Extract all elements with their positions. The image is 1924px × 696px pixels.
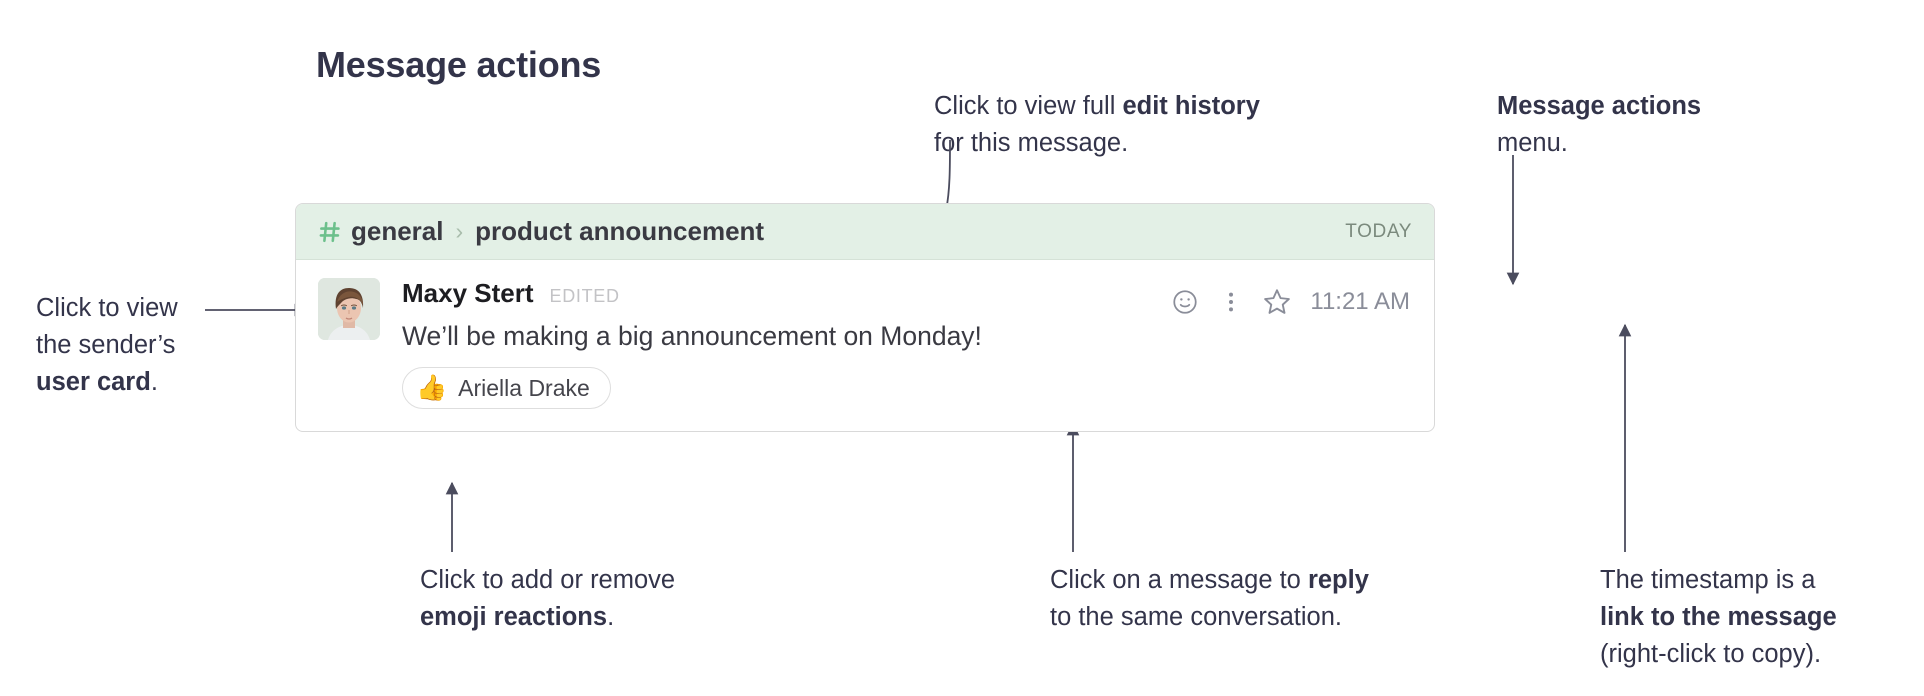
annotation-user-card-text-2: the sender’s bbox=[36, 327, 178, 364]
reaction-row: 👍 Ariella Drake bbox=[402, 367, 1412, 409]
annotation-user-card: Click to viewthe sender’suser card. bbox=[36, 290, 178, 401]
breadcrumb-channel[interactable]: general bbox=[351, 216, 444, 247]
message-actions-bar: 11:21 AM bbox=[1162, 282, 1410, 322]
hash-icon bbox=[318, 220, 342, 244]
annotation-timestamp-text-3: (right-click to copy). bbox=[1600, 636, 1837, 673]
avatar[interactable] bbox=[318, 278, 380, 340]
annotation-user-card-text-1: Click to view bbox=[36, 290, 178, 327]
annotation-timestamp-text-1: The timestamp is a bbox=[1600, 562, 1837, 599]
annotation-reply: Click on a message to replyto the same c… bbox=[1050, 562, 1369, 636]
message-text[interactable]: We’ll be making a big announcement on Mo… bbox=[402, 319, 1412, 353]
annotation-user-card-bold: user card bbox=[36, 368, 151, 396]
annotation-emoji-bold: emoji reactions bbox=[420, 603, 607, 631]
message-card: general › product announcement TODAY bbox=[295, 203, 1435, 432]
channel-header: general › product announcement TODAY bbox=[296, 204, 1434, 260]
day-label: TODAY bbox=[1345, 221, 1412, 243]
annotation-emoji-period: . bbox=[607, 603, 614, 631]
star-icon[interactable] bbox=[1254, 282, 1300, 322]
annotation-edit-history-bold: edit history bbox=[1122, 92, 1259, 120]
annotation-actions-menu-text-2: menu. bbox=[1497, 125, 1701, 162]
annotation-edit-history: Click to view full edit historyfor this … bbox=[934, 88, 1260, 162]
breadcrumb-topic[interactable]: product announcement bbox=[475, 216, 764, 247]
annotation-timestamp-link: The timestamp is alink to the message(ri… bbox=[1600, 562, 1837, 673]
breadcrumb-separator: › bbox=[456, 218, 464, 245]
annotation-user-card-period: . bbox=[151, 368, 158, 396]
thumbs-up-emoji: 👍 bbox=[416, 376, 447, 401]
annotation-edit-history-text-2: for this message. bbox=[934, 125, 1260, 162]
annotation-edit-history-text-1: Click to view full bbox=[934, 92, 1122, 120]
page-title: Message actions bbox=[316, 44, 601, 86]
annotation-emoji-reactions: Click to add or removeemoji reactions. bbox=[420, 562, 675, 636]
annotation-reply-text-2: to the same conversation. bbox=[1050, 599, 1369, 636]
annotation-actions-menu: Message actionsmenu. bbox=[1497, 88, 1701, 162]
message-actions-menu-icon[interactable] bbox=[1208, 282, 1254, 322]
emoji-reaction-icon[interactable] bbox=[1162, 282, 1208, 322]
message-row[interactable]: Maxy Stert EDITED We’ll be making a big … bbox=[296, 260, 1434, 431]
annotation-reply-text-1: Click on a message to bbox=[1050, 566, 1308, 594]
reaction-chip[interactable]: 👍 Ariella Drake bbox=[402, 367, 611, 409]
message-timestamp[interactable]: 11:21 AM bbox=[1310, 288, 1410, 316]
annotation-reply-bold: reply bbox=[1308, 566, 1369, 594]
reaction-user-name: Ariella Drake bbox=[458, 375, 590, 402]
annotation-timestamp-bold: link to the message bbox=[1600, 603, 1837, 631]
sender-name[interactable]: Maxy Stert bbox=[402, 278, 534, 309]
annotation-actions-menu-bold: Message actions bbox=[1497, 92, 1701, 120]
user-avatar-photo bbox=[318, 278, 380, 340]
edited-badge[interactable]: EDITED bbox=[550, 286, 620, 307]
annotation-emoji-text-1: Click to add or remove bbox=[420, 562, 675, 599]
